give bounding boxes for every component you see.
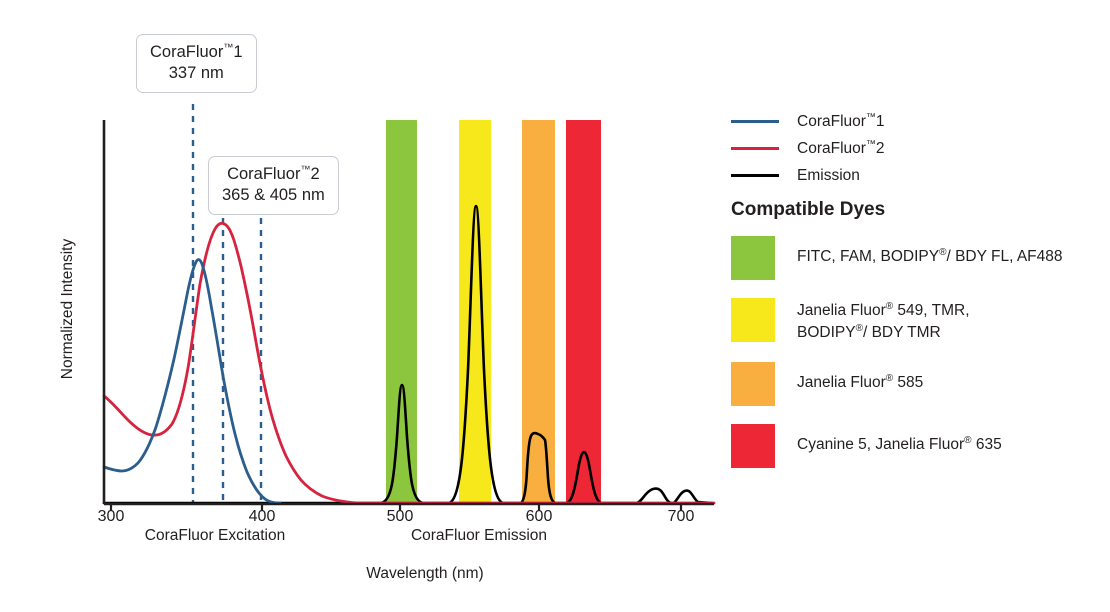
compatible-dyes-list: FITC, FAM, BODIPY®/ BDY FL, AF488 Janeli…: [731, 236, 1106, 486]
x-tick-label-400: 400: [232, 508, 292, 526]
series-legend: CoraFluor™1 CoraFluor™2 Emission: [731, 108, 1101, 189]
dye-label-green: FITC, FAM, BODIPY®/ BDY FL, AF488: [797, 236, 1063, 268]
legend-label-corafluor2: CoraFluor™2: [797, 139, 885, 158]
x-tick-label-500: 500: [370, 508, 430, 526]
legend-item-corafluor2: CoraFluor™2: [731, 135, 1101, 162]
x-tick-label-600: 600: [509, 508, 569, 526]
callout-corafluor1: CoraFluor™1 337 nm: [136, 34, 257, 93]
dye-item-orange: Janelia Fluor® 585: [731, 362, 1106, 406]
dye-label-yellow: Janelia Fluor® 549, TMR, BODIPY®/ BDY TM…: [797, 298, 970, 344]
dye-swatch-yellow: [731, 298, 775, 342]
legend-item-corafluor1: CoraFluor™1: [731, 108, 1101, 135]
dye-label-yellow-line2: BODIPY®/ BDY TMR: [797, 324, 941, 341]
x-tick-label-300: 300: [81, 508, 141, 526]
callout-2-line2: 365 & 405 nm: [222, 185, 325, 206]
legend-item-emission: Emission: [731, 162, 1101, 189]
x-axis-title: Wavelength (nm): [275, 565, 575, 583]
emission-band-orange: [522, 120, 555, 504]
dye-label-red: Cyanine 5, Janelia Fluor® 635: [797, 424, 1002, 456]
callout-1-line2: 337 nm: [150, 63, 243, 84]
legend-line-swatch-corafluor1: [731, 120, 779, 123]
emission-band-red: [566, 120, 601, 504]
dye-item-yellow: Janelia Fluor® 549, TMR, BODIPY®/ BDY TM…: [731, 298, 1106, 344]
region-label-excitation: CoraFluor Excitation: [95, 527, 335, 545]
dye-item-green: FITC, FAM, BODIPY®/ BDY FL, AF488: [731, 236, 1106, 280]
emission-band-green: [386, 120, 417, 504]
x-tick-label-700: 700: [651, 508, 711, 526]
callout-2-line1: CoraFluor™2: [222, 164, 325, 185]
callout-corafluor2: CoraFluor™2 365 & 405 nm: [208, 156, 339, 215]
legend-label-emission: Emission: [797, 167, 860, 185]
region-label-emission: CoraFluor Emission: [359, 527, 599, 545]
legend-line-swatch-emission: [731, 174, 779, 177]
compatible-dyes-title: Compatible Dyes: [731, 199, 885, 221]
dye-swatch-green: [731, 236, 775, 280]
emission-band-group: [386, 120, 601, 504]
spectra-figure: CoraFluor™1 337 nm CoraFluor™2 365 & 405…: [0, 0, 1110, 612]
legend-label-corafluor1: CoraFluor™1: [797, 112, 885, 131]
dye-swatch-orange: [731, 362, 775, 406]
dye-label-yellow-line1: Janelia Fluor® 549, TMR,: [797, 302, 970, 319]
dye-swatch-red: [731, 424, 775, 468]
callout-1-line1: CoraFluor™1: [150, 42, 243, 63]
dye-label-orange: Janelia Fluor® 585: [797, 362, 923, 394]
dye-item-red: Cyanine 5, Janelia Fluor® 635: [731, 424, 1106, 468]
y-axis-title: Normalized Intensity: [59, 209, 77, 409]
legend-line-swatch-corafluor2: [731, 147, 779, 150]
